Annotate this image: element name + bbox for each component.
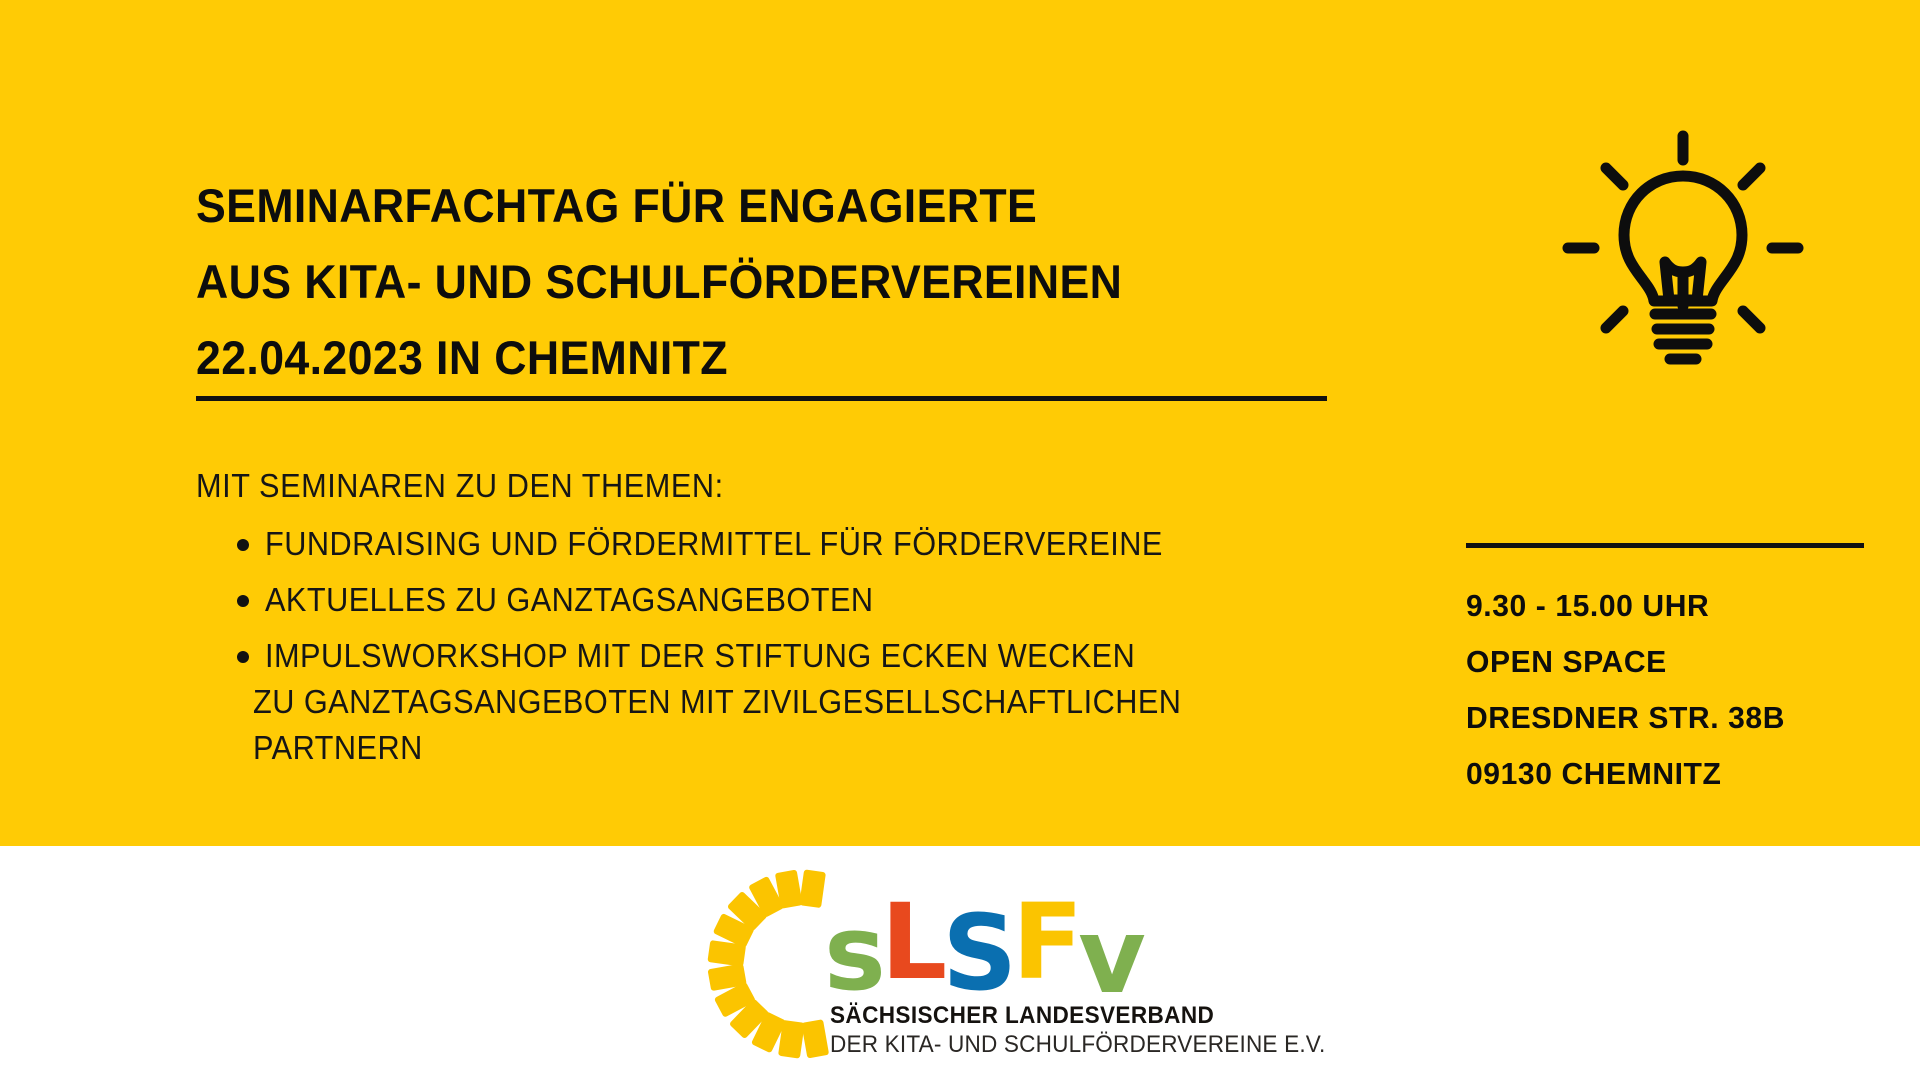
list-item-label: FUNDRAISING UND FÖRDERMITTEL FÜR FÖRDERV… [265, 521, 1298, 567]
event-time: 9.30 - 15.00 UHR [1466, 578, 1873, 634]
logo-wordmark: sLSFv [824, 888, 1141, 996]
list-item-label-cont-1: ZU GANZTAGSANGEBOTEN MIT ZIVILGESELLSCHA… [253, 679, 1297, 725]
footer-band: sLSFv SÄCHSISCHER LANDESVERBAND DER KITA… [0, 846, 1920, 1080]
lightbulb-icon [1558, 128, 1808, 378]
list-item: AKTUELLES ZU GANZTAGSANGEBOTEN [196, 577, 1376, 623]
list-item-label: IMPULSWORKSHOP MIT DER STIFTUNG ECKEN WE… [265, 633, 1298, 679]
headline-line-1: SEMINARFACHTAG FÜR ENGAGIERTE [196, 168, 1289, 244]
poster: SEMINARFACHTAG FÜR ENGAGIERTE AUS KITA- … [0, 0, 1920, 1080]
logo-subtitle: SÄCHSISCHER LANDESVERBAND DER KITA- UND … [830, 1002, 1250, 1060]
logo-letter-s2: S [942, 899, 1012, 1007]
logo-subtitle-line-1: SÄCHSISCHER LANDESVERBAND [830, 1002, 1225, 1030]
page-title: SEMINARFACHTAG FÜR ENGAGIERTE AUS KITA- … [196, 168, 1346, 396]
list-item: FUNDRAISING UND FÖRDERMITTEL FÜR FÖRDERV… [196, 521, 1376, 567]
event-city: 09130 CHEMNITZ [1466, 746, 1873, 802]
logo-letter-f: F [1012, 888, 1078, 996]
topics-list: FUNDRAISING UND FÖRDERMITTEL FÜR FÖRDERV… [196, 521, 1376, 771]
list-item-label: AKTUELLES ZU GANZTAGSANGEBOTEN [265, 577, 1298, 623]
topics-section: MIT SEMINAREN ZU DEN THEMEN: FUNDRAISING… [196, 463, 1376, 781]
topics-intro: MIT SEMINAREN ZU DEN THEMEN: [196, 463, 1293, 509]
headline-line-2: AUS KITA- UND SCHULFÖRDERVEREINEN [196, 244, 1289, 320]
headline-line-3-date: 22.04.2023 IN CHEMNITZ [196, 320, 1289, 396]
list-item: IMPULSWORKSHOP MIT DER STIFTUNG ECKEN WE… [196, 633, 1376, 771]
info-divider [1466, 543, 1864, 548]
bullet-icon [237, 595, 249, 607]
bullet-icon [237, 651, 249, 663]
logo-letter-v: v [1078, 902, 1141, 1010]
slsfv-logo: sLSFv SÄCHSISCHER LANDESVERBAND DER KITA… [680, 852, 1240, 1074]
list-item-label-cont-2: PARTNERN [253, 725, 1297, 771]
bullet-icon [237, 539, 249, 551]
logo-subtitle-line-2: DER KITA- UND SCHULFÖRDERVEREINE E.V. [830, 1030, 1225, 1060]
event-details: 9.30 - 15.00 UHR OPEN SPACE DRESDNER STR… [1466, 578, 1886, 802]
event-venue: OPEN SPACE [1466, 634, 1873, 690]
logo-letter-s1: s [824, 899, 881, 1007]
event-street: DRESDNER STR. 38B [1466, 690, 1873, 746]
logo-letter-l: L [881, 888, 942, 996]
headline-divider [196, 396, 1327, 401]
